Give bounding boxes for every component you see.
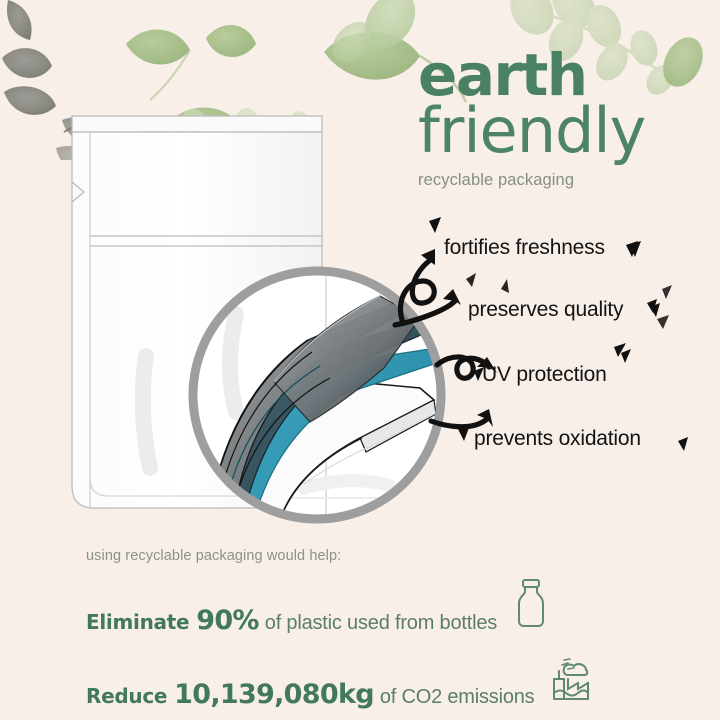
stat-tail: of CO2 emissions <box>380 686 535 709</box>
bottle-icon <box>511 577 551 629</box>
infographic-canvas: earth friendly recyclable packaging fort… <box>0 0 720 720</box>
title-line-friendly: friendly <box>418 99 718 162</box>
stat-verb: Reduce <box>86 684 167 708</box>
stat-tail: of plastic used from bottles <box>265 612 497 635</box>
stat-row-eliminate: Eliminate 90% of plastic used from bottl… <box>86 577 646 636</box>
callout-label-fortifies-freshness: fortifies freshness <box>444 236 605 260</box>
callout-label-uv-protection: UV protection <box>482 363 607 387</box>
headline-subtitle: recyclable packaging <box>418 171 718 190</box>
stat-row-reduce: Reduce 10,139,080kg of CO2 emissions <box>86 653 646 710</box>
stat-value: 90% <box>196 605 259 636</box>
stat-verb: Eliminate <box>86 610 189 634</box>
headline-block: earth friendly recyclable packaging <box>418 48 718 190</box>
stats-intro-text: using recyclable packaging would help: <box>86 548 646 564</box>
stats-block: using recyclable packaging would help: E… <box>86 548 646 720</box>
callout-label-preserves-quality: preserves quality <box>468 298 623 322</box>
callout-label-prevents-oxidation: prevents oxidation <box>474 427 641 451</box>
factory-icon <box>548 653 594 703</box>
stat-value: 10,139,080kg <box>174 679 374 710</box>
